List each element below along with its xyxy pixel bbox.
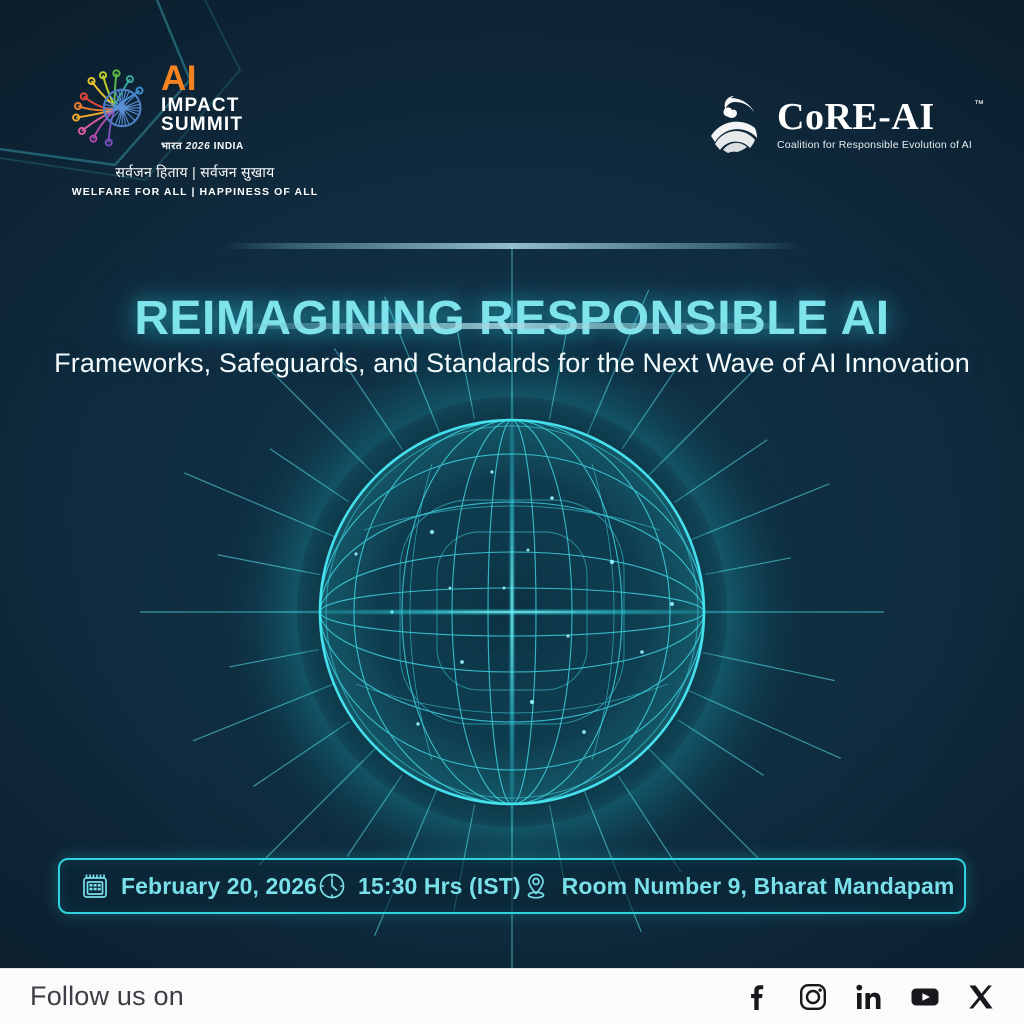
ai-impact-summit-chakra-icon	[55, 58, 151, 154]
event-details-bar: February 20, 2026 15:30 Hrs (IST)	[58, 858, 966, 914]
page-title: REIMAGINING RESPONSIBLE AI	[0, 291, 1024, 346]
event-venue-text: Room Number 9, Bharat Mandapam	[562, 873, 955, 900]
follow-us-label: Follow us on	[30, 981, 184, 1012]
event-venue-item: Room Number 9, Bharat Mandapam	[521, 871, 955, 901]
ai-impact-summit-logo: AI IMPACT SUMMIT भारत 2026 INDIA सर्वजन …	[55, 58, 335, 198]
facebook-icon[interactable]	[742, 982, 772, 1012]
core-ai-logo: CoRE-AI ™ Coalition for Responsible Evol…	[701, 92, 972, 156]
instagram-icon[interactable]	[798, 982, 828, 1012]
sphere-horizontal-flare	[252, 609, 772, 616]
page-subtitle: Frameworks, Safeguards, and Standards fo…	[0, 348, 1024, 379]
event-time-item: 15:30 Hrs (IST)	[317, 871, 521, 901]
social-icon-row	[742, 982, 996, 1012]
location-pin-icon	[521, 871, 551, 901]
event-date-text: February 20, 2026	[121, 873, 317, 900]
sphere-vertical-flare	[509, 352, 516, 872]
summit-bharat-india-text: भारत 2026 INDIA	[161, 138, 244, 152]
sphere-outer-halo	[297, 397, 727, 827]
core-ai-swirl-icon	[701, 92, 765, 156]
core-ai-full-form: Coalition for Responsible Evolution of A…	[777, 139, 972, 151]
summit-year: 2026	[186, 141, 211, 152]
summit-summit-text: SUMMIT	[161, 115, 244, 135]
summit-bharat-hindi: भारत	[161, 141, 182, 152]
summit-india-english: INDIA	[214, 141, 244, 152]
title-divider-bottom	[222, 323, 802, 329]
title-divider-top	[222, 243, 802, 249]
event-poster: AI IMPACT SUMMIT भारत 2026 INDIA सर्वजन …	[0, 0, 1024, 1024]
social-footer: Follow us on	[0, 968, 1024, 1024]
tagline-hindi: सर्वजन हिताय | सर्वजन सुखाय	[55, 163, 335, 182]
event-date-item: February 20, 2026	[80, 871, 317, 901]
x-icon[interactable]	[966, 982, 996, 1012]
youtube-icon[interactable]	[910, 982, 940, 1012]
sphere-inner-glow	[302, 402, 722, 822]
summit-ai-text: AI	[161, 62, 244, 96]
summit-impact-text: IMPACT	[161, 96, 244, 116]
event-time-text: 15:30 Hrs (IST)	[358, 873, 521, 900]
clock-icon	[317, 871, 347, 901]
core-ai-trademark: ™	[974, 99, 984, 110]
linkedin-icon[interactable]	[854, 982, 884, 1012]
tagline-english: WELFARE FOR ALL | HAPPINESS OF ALL	[55, 186, 335, 198]
calendar-icon	[80, 871, 110, 901]
core-ai-wordmark: CoRE-AI	[777, 98, 972, 136]
